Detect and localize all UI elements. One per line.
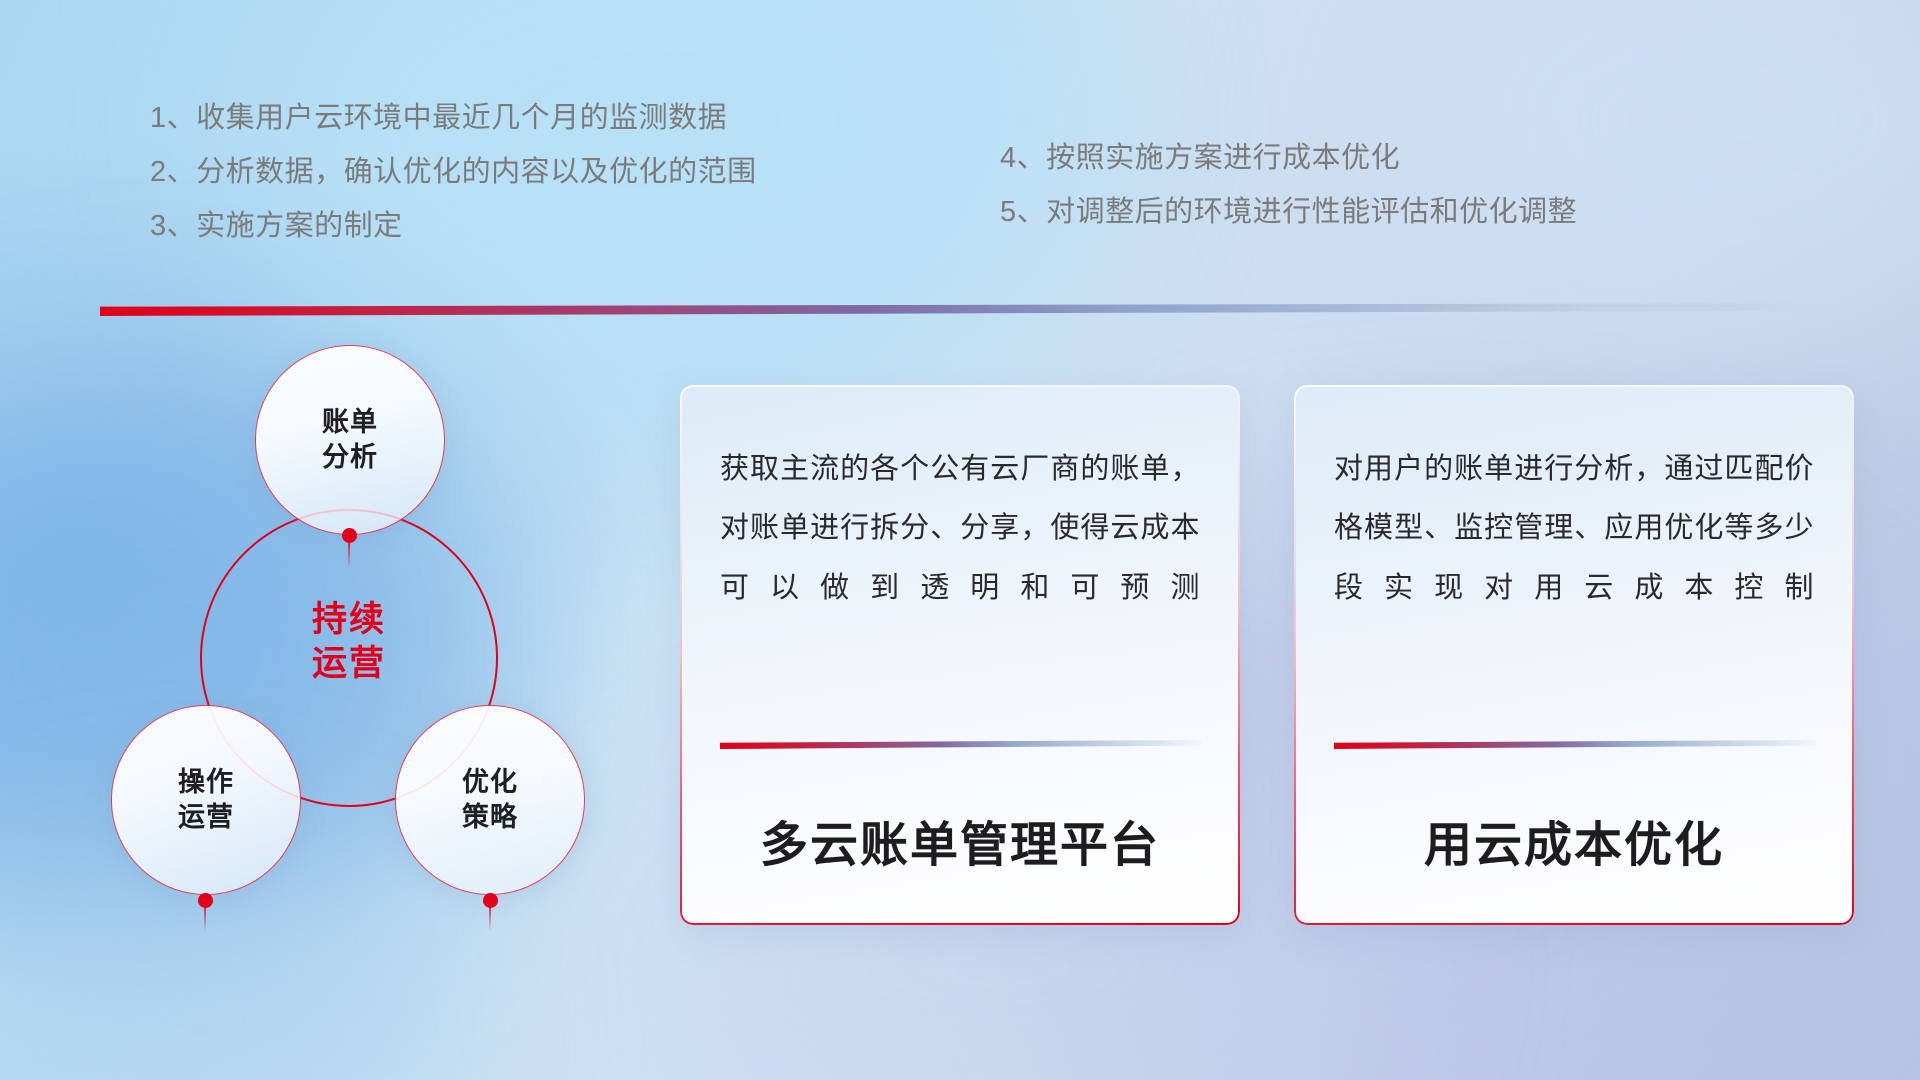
cycle-node-label-line2: 分析 <box>322 440 378 475</box>
card-multicloud-billing-platform[interactable]: 获取主流的各个公有云厂商的账单，对账单进行拆分、分享，使得云成本可以做到透明和可… <box>680 385 1240 925</box>
cycle-node-label-line2: 策略 <box>462 800 518 835</box>
card-divider <box>720 740 1202 749</box>
cycle-node-optimization-strategy[interactable]: 优化 策略 <box>395 705 585 895</box>
cycle-center-label: 持续 运营 <box>200 598 498 686</box>
card-body: 获取主流的各个公有云厂商的账单，对账单进行拆分、分享，使得云成本可以做到透明和可… <box>680 385 1240 618</box>
cycle-connector-tail <box>204 905 206 931</box>
cards-section: 获取主流的各个公有云厂商的账单，对账单进行拆分、分享，使得云成本可以做到透明和可… <box>680 385 1854 925</box>
section-divider-bar <box>100 303 1870 316</box>
cycle-node-label: 操作 运营 <box>178 765 234 835</box>
step-item: 1、收集用户云环境中最近几个月的监测数据 <box>150 104 890 133</box>
step-item: 2、分析数据，确认优化的内容以及优化的范围 <box>150 158 890 187</box>
card-title: 用云成本优化 <box>1294 805 1854 875</box>
cycle-node-label-line1: 优化 <box>462 765 518 800</box>
cycle-node-dot <box>483 893 498 908</box>
cycle-center-label-line2: 运营 <box>200 642 498 686</box>
cycle-node-dot <box>198 893 213 908</box>
step-item: 4、按照实施方案进行成本优化 <box>1000 144 1760 173</box>
steps-column-right: 4、按照实施方案进行成本优化 5、对调整后的环境进行性能评估和优化调整 <box>1000 104 1760 266</box>
steps-section: 1、收集用户云环境中最近几个月的监测数据 2、分析数据，确认优化的内容以及优化的… <box>150 104 1790 266</box>
cycle-node-operations[interactable]: 操作 运营 <box>111 705 301 895</box>
cycle-node-label: 优化 策略 <box>462 765 518 835</box>
cycle-node-billing-analysis[interactable]: 账单 分析 <box>255 345 445 535</box>
cycle-diagram: 持续 运营 账单 分析 操作 运营 优化 策略 <box>95 345 635 945</box>
cycle-connector-tail <box>348 541 350 569</box>
slide-canvas: 1、收集用户云环境中最近几个月的监测数据 2、分析数据，确认优化的内容以及优化的… <box>0 0 1920 1080</box>
card-cloud-cost-optimization[interactable]: 对用户的账单进行分析，通过匹配价格模型、监控管理、应用优化等多少段实现对用云成本… <box>1294 385 1854 925</box>
card-divider-bar <box>1334 740 1816 749</box>
cycle-node-label: 账单 分析 <box>322 405 378 475</box>
card-description: 对用户的账单进行分析，通过匹配价格模型、监控管理、应用优化等多少段实现对用云成本… <box>1334 440 1814 618</box>
cycle-connector-tail <box>489 905 491 931</box>
step-item: 3、实施方案的制定 <box>150 212 890 241</box>
card-divider-bar <box>720 740 1202 749</box>
card-divider <box>1334 740 1816 749</box>
card-body: 对用户的账单进行分析，通过匹配价格模型、监控管理、应用优化等多少段实现对用云成本… <box>1294 385 1854 618</box>
cycle-center-label-line1: 持续 <box>200 598 498 642</box>
step-item: 5、对调整后的环境进行性能评估和优化调整 <box>1000 198 1760 227</box>
cycle-node-label-line1: 操作 <box>178 765 234 800</box>
card-description: 获取主流的各个公有云厂商的账单，对账单进行拆分、分享，使得云成本可以做到透明和可… <box>720 440 1200 618</box>
card-title: 多云账单管理平台 <box>680 805 1240 875</box>
cycle-node-label-line1: 账单 <box>322 405 378 440</box>
cycle-node-dot <box>342 528 357 543</box>
cycle-node-label-line2: 运营 <box>178 800 234 835</box>
steps-column-left: 1、收集用户云环境中最近几个月的监测数据 2、分析数据，确认优化的内容以及优化的… <box>150 104 890 266</box>
section-divider <box>100 303 1870 316</box>
